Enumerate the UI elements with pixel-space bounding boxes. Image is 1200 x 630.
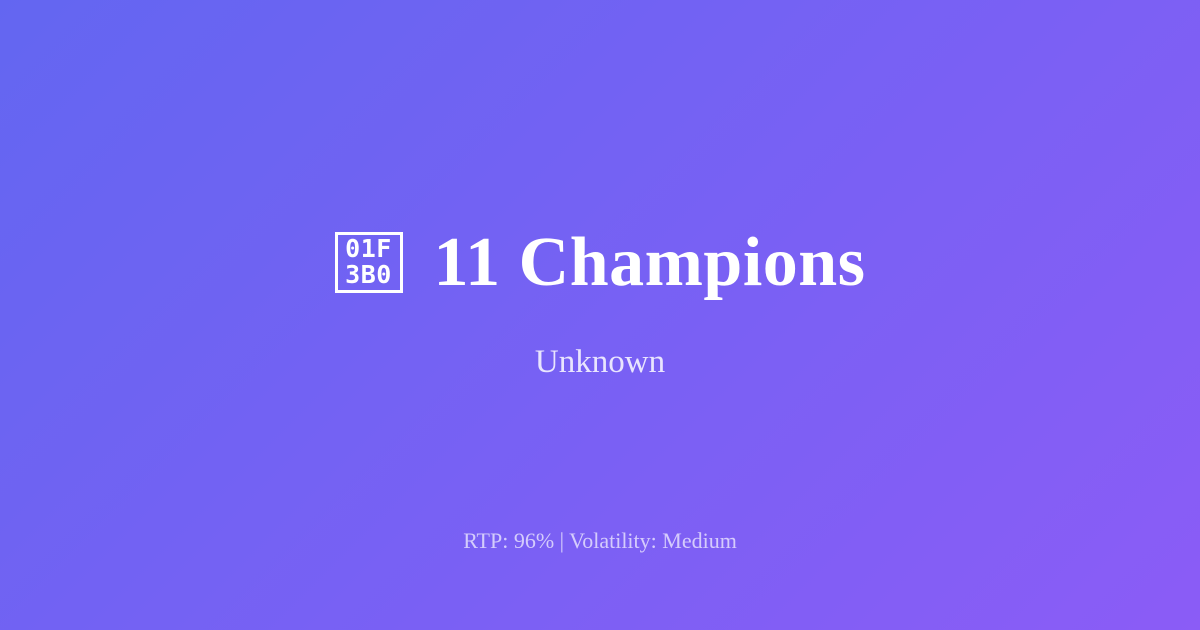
page-title: 11 Champions — [434, 228, 866, 298]
card-subtitle: Unknown — [535, 346, 665, 379]
card-center-group: 01F 3B0 11 Champions Unknown — [0, 228, 1200, 379]
game-stats-line: RTP: 96% | Volatility: Medium — [0, 530, 1200, 552]
title-row: 01F 3B0 11 Champions — [335, 228, 866, 298]
slot-machine-icon-codepoint-upper: 01F — [345, 236, 392, 262]
game-preview-card: 01F 3B0 11 Champions Unknown RTP: 96% | … — [0, 0, 1200, 630]
slot-machine-icon-codepoint-lower: 3B0 — [345, 262, 392, 288]
slot-machine-icon: 01F 3B0 — [335, 232, 403, 293]
